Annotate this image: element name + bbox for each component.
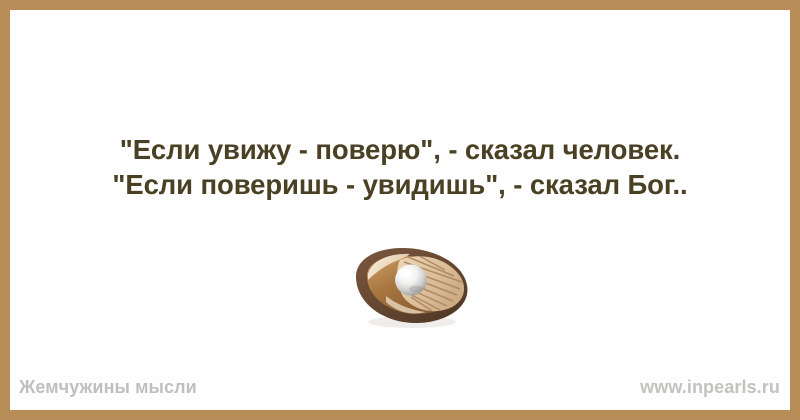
pearl-highlight	[399, 268, 411, 277]
seashell-with-pearl-image	[342, 232, 478, 336]
quote-line-2: "Если поверишь - увидишь", - сказал Бог.…	[10, 167, 790, 202]
quote-card: "Если увижу - поверю", - сказал человек.…	[0, 0, 800, 420]
footer-website[interactable]: www.inpearls.ru	[640, 377, 780, 398]
quote-text-block: "Если увижу - поверю", - сказал человек.…	[10, 132, 790, 202]
pearl-shadow	[409, 286, 423, 293]
shell-ground-shadow	[368, 316, 456, 328]
footer-brand: Жемчужины мысли	[19, 377, 197, 398]
quote-line-1: "Если увижу - поверю", - сказал человек.	[10, 132, 790, 167]
